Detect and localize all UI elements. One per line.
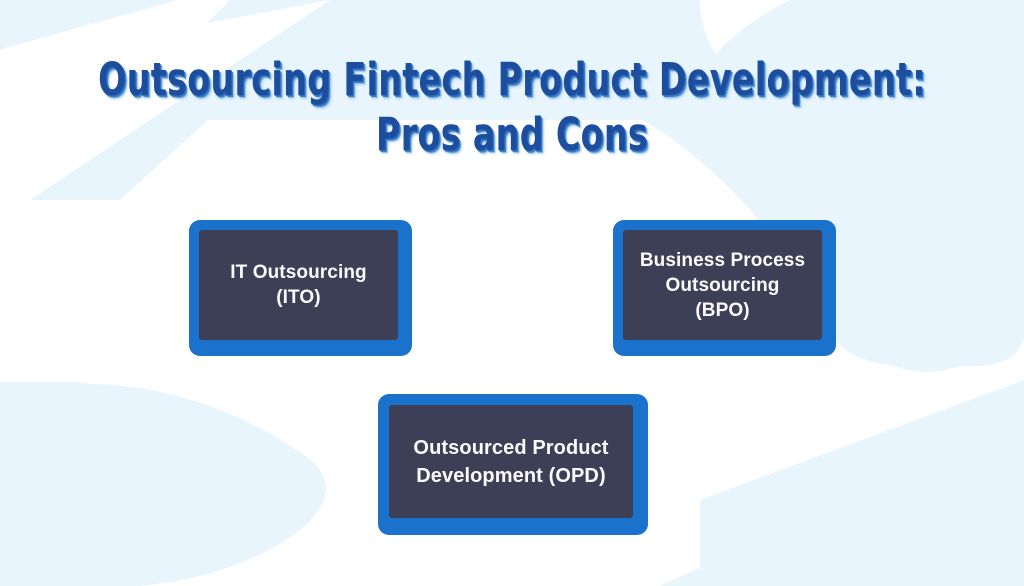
blob-top-right-notch bbox=[700, 0, 790, 54]
node-label-ito: IT Outsourcing (ITO) bbox=[222, 260, 375, 310]
node-it-outsourcing[interactable]: IT Outsourcing (ITO) bbox=[189, 220, 412, 356]
page-title: Outsourcing Fintech Product Development:… bbox=[0, 52, 1024, 162]
blob-bottom-left bbox=[0, 384, 326, 586]
title-line-2: Pros and Cons bbox=[92, 107, 932, 162]
node-outsourced-product-development[interactable]: Outsourced Product Development (OPD) bbox=[378, 394, 648, 535]
node-inner-opd: Outsourced Product Development (OPD) bbox=[389, 405, 633, 518]
node-label-opd: Outsourced Product Development (OPD) bbox=[405, 434, 616, 490]
blob-right-curve bbox=[820, 300, 1024, 372]
node-business-process-outsourcing[interactable]: Business Process Outsourcing (BPO) bbox=[613, 220, 836, 356]
blob-bottom-right bbox=[700, 380, 1024, 586]
node-inner-ito: IT Outsourcing (ITO) bbox=[199, 230, 398, 340]
node-label-bpo: Business Process Outsourcing (BPO) bbox=[632, 248, 813, 323]
title-line-1: Outsourcing Fintech Product Development: bbox=[92, 52, 932, 107]
slide-canvas: Outsourcing Fintech Product Development:… bbox=[0, 0, 1024, 586]
node-inner-bpo: Business Process Outsourcing (BPO) bbox=[623, 230, 822, 340]
blob-bottom-right-2 bbox=[660, 418, 1024, 586]
blob-bottom-left-2 bbox=[0, 382, 282, 586]
